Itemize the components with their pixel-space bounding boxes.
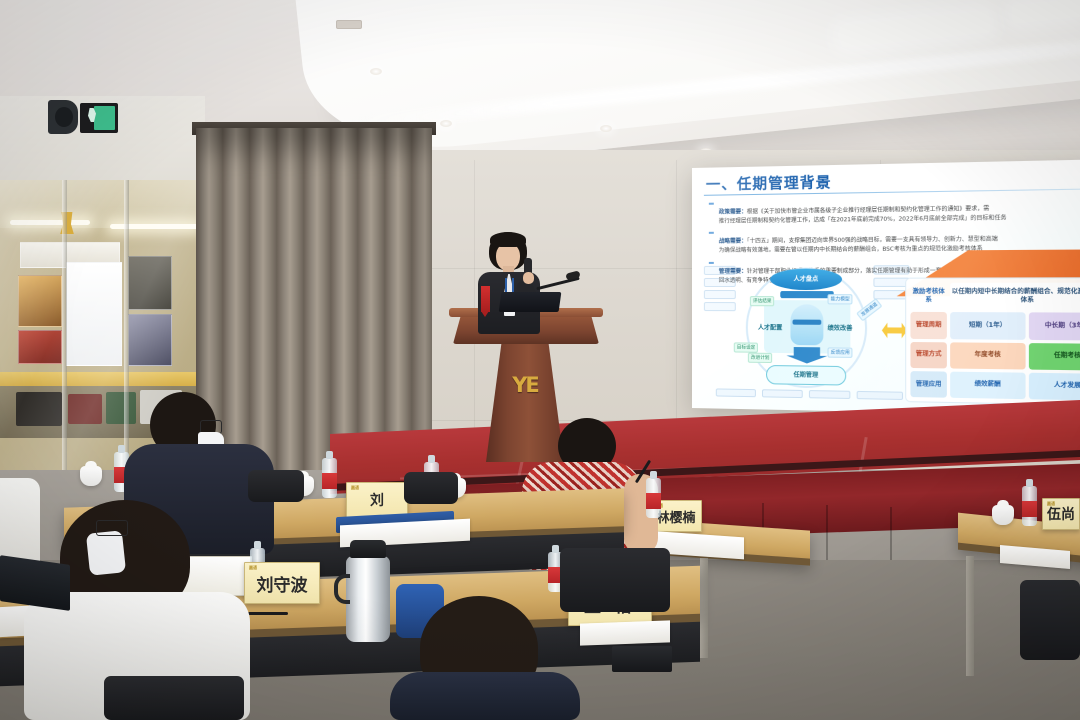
diagram-tag-0: 评估结果 xyxy=(750,296,775,306)
cabinet-item-2 xyxy=(68,394,102,424)
cabinet-poster-1 xyxy=(18,275,62,327)
nameplate-name-4: 林樱楠 xyxy=(656,507,695,526)
downlight-2 xyxy=(440,120,452,127)
diagram-tag-2: 目标设定 xyxy=(734,342,759,352)
matrix-row-2: 管理方式 年度考核 任期考核 xyxy=(910,341,1080,370)
ghost-box-b2 xyxy=(762,389,803,398)
attendee-white-mask xyxy=(86,530,126,576)
presentation-slide: 一、任期管理背景 政策需要：根据《关于加快市管企业市属各级子企业推行经理层任期制… xyxy=(692,159,1080,417)
pen-front-a xyxy=(248,612,288,615)
ghost-box-r2 xyxy=(873,278,909,287)
thermos-flask xyxy=(346,556,390,642)
matrix-row-1: 管理周期 短期（1年） 中长期（3年） xyxy=(910,312,1080,340)
curtain xyxy=(196,128,432,480)
nameplate-name-2: 刘守波 xyxy=(257,571,308,596)
banner-text: 战略目标 实现高质量发展 xyxy=(967,168,1080,191)
wall-speaker-icon xyxy=(48,100,78,134)
matrix-cell-2-0: 年度考核 xyxy=(950,342,1025,369)
nameplate-brand-1: 圆通 xyxy=(351,485,359,491)
bottle-label-right xyxy=(1022,501,1037,517)
chair-right xyxy=(1020,580,1080,660)
bullet-label-1: 战略需要： xyxy=(719,239,747,245)
matrix-head-2: 管理方式 xyxy=(910,341,946,368)
cabinet-poster-chart xyxy=(66,262,122,366)
diagram-person-icon xyxy=(790,304,823,345)
ghost-box-b4 xyxy=(857,391,903,400)
chair-mid-right xyxy=(560,548,670,612)
matrix-cell-1-1: 中长期（3年） xyxy=(1029,313,1080,340)
downlight-1 xyxy=(370,68,382,75)
bullet-text-1: 「十四五」期间，支撑集团迈向世界500强的战略目标，需要一支具有领导力、创新力、… xyxy=(747,237,998,245)
diagram-tag-1: 能力模型 xyxy=(828,294,853,304)
bottle-label-mid-right xyxy=(646,493,661,509)
matrix-head-0: 激励考核体系 xyxy=(910,283,946,309)
ghost-box-r1 xyxy=(873,265,909,274)
diagram-tag-4: 改进计划 xyxy=(748,353,773,363)
ceiling-vent xyxy=(336,20,362,29)
matrix-cell-1-0: 短期（1年） xyxy=(950,312,1025,339)
cabinet-light-1 xyxy=(10,220,90,225)
ghost-box-l2 xyxy=(704,278,736,287)
table-mid-right-leg xyxy=(700,558,708,658)
matrix-row-3: 管理应用 绩效薪酬 人才发展 xyxy=(910,371,1080,401)
laptop-front xyxy=(612,646,672,672)
cabinet-gold-band xyxy=(0,372,208,386)
nameplate-name-5: 伍尚 xyxy=(1047,504,1075,524)
cabinet-item-1 xyxy=(16,392,62,426)
diagram-right-node: 绩效改善 xyxy=(828,323,853,332)
matrix-cell-3-1: 人才发展 xyxy=(1029,372,1080,400)
diagram-left-node: 人才配置 xyxy=(758,322,782,331)
ghost-box-b3 xyxy=(809,390,850,399)
nameplate-brand-2: 圆通 xyxy=(249,565,257,571)
water-bottle-right xyxy=(1022,486,1037,526)
slide-cycle-diagram: 人才盘点 任期管理 人才配置 绩效改善 评估结果 能力模型 目标设定 反馈应用 … xyxy=(704,259,910,402)
nameplate-liu[interactable]: 圆通 刘 xyxy=(346,482,408,518)
matrix-cell-0-0: 以任期内短中长期结合的薪酬组合、规范化激励考核体系 xyxy=(950,283,1080,310)
matrix-cell-3-0: 绩效薪酬 xyxy=(950,371,1025,399)
ghost-box-l3 xyxy=(704,290,736,299)
nameplate-wushang[interactable]: 圆通 伍尚 xyxy=(1042,498,1080,530)
ghost-box-b1 xyxy=(716,388,756,397)
bullet-label-0: 政策需要： xyxy=(719,209,747,215)
cabinet-item-3 xyxy=(106,392,136,424)
downlight-4 xyxy=(600,125,612,132)
ghost-box-l4 xyxy=(704,302,736,311)
diagram-bar xyxy=(780,291,833,298)
cabinet-poster-4 xyxy=(128,314,172,366)
skirt-fold-9 xyxy=(890,507,892,567)
speaker-fringe xyxy=(490,232,526,247)
exit-sign xyxy=(80,103,118,133)
chair-row2-b xyxy=(404,472,458,504)
skirt-fold-8 xyxy=(826,505,828,565)
diagram-tag-3: 反馈应用 xyxy=(828,347,853,358)
podium-logo: YE xyxy=(508,372,542,398)
laptop-edge-left xyxy=(0,555,70,611)
attendee-navy-torso xyxy=(390,672,580,720)
chair-row2-a xyxy=(248,470,304,502)
wall-seam-v4 xyxy=(474,160,475,440)
banner-line-2: 实现高质量发展 xyxy=(967,178,1080,190)
slide-bullet-0: 政策需要：根据《关于加快市管企业市属各级子企业推行经理层任期制和契约化管理工作的… xyxy=(708,193,1080,226)
matrix-row-0: 激励考核体系 以任期内短中长期结合的薪酬组合、规范化激励考核体系 xyxy=(910,283,1080,310)
nameplate-liushoubo[interactable]: 圆通 刘守波 xyxy=(244,562,320,604)
projection-screen: 一、任期管理背景 政策需要：根据《关于加快市管企业市属各级子企业推行经理层任期制… xyxy=(692,159,1080,417)
nameplate-name-1: 刘 xyxy=(370,490,384,510)
cabinet-mullion-1 xyxy=(62,180,67,510)
speaker-hand xyxy=(523,272,534,284)
attendee-white-glasses-icon xyxy=(96,520,128,536)
matrix-head-1: 管理周期 xyxy=(910,312,946,339)
teacup-row2-a xyxy=(80,466,102,486)
diagram-bottom-node: 任期管理 xyxy=(766,365,846,386)
bottle-label-row2-b xyxy=(322,473,337,489)
nameplate-brand-5: 圆通 xyxy=(1047,501,1055,507)
speaker-ribbon xyxy=(481,286,490,312)
thermos-handle xyxy=(334,574,350,604)
ghost-box-l1 xyxy=(704,266,736,275)
conference-room-photo: 一、任期管理背景 政策需要：根据《关于加快市管企业市属各级子企业推行经理层任期制… xyxy=(0,0,1080,720)
table-right-leg xyxy=(966,556,974,676)
podium-laptop xyxy=(499,292,562,312)
diagram-top-node: 人才盘点 xyxy=(770,268,842,290)
slide-title: 一、任期管理背景 xyxy=(706,171,832,195)
cabinet-poster-3 xyxy=(128,256,172,310)
slide-matrix-table: 激励考核体系 以任期内短中长期结合的薪酬组合、规范化激励考核体系 管理周期 短期… xyxy=(905,277,1080,406)
water-bottle-row2-b xyxy=(322,458,337,498)
paper-front-b xyxy=(580,620,670,645)
matrix-cell-2-1: 任期考核 xyxy=(1029,343,1080,371)
matrix-head-3: 管理应用 xyxy=(910,371,946,398)
teacup-right xyxy=(992,505,1014,525)
cabinet-poster-2 xyxy=(18,330,62,364)
water-bottle-mid-right xyxy=(646,478,661,518)
chair-front-left xyxy=(104,676,244,720)
thermos-lid xyxy=(350,540,386,558)
wall-seam-v1 xyxy=(676,160,677,440)
